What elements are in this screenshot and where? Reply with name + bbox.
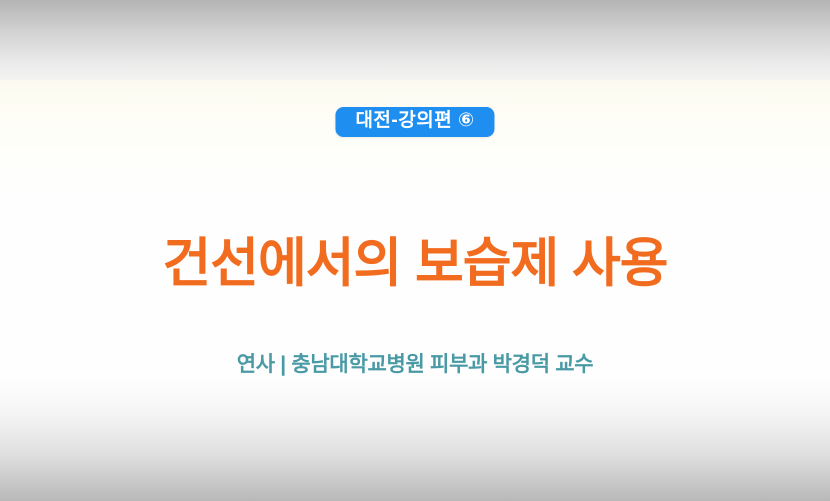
slide-content: 대전-강의편 ⑥ 건선에서의 보습제 사용 연사 | 충남대학교병원 피부과 박… xyxy=(0,0,830,501)
speaker-line: 연사 | 충남대학교병원 피부과 박경덕 교수 xyxy=(0,352,830,377)
series-badge-label: 대전-강의편 ⑥ xyxy=(355,111,474,131)
title-slide: 대전-강의편 ⑥ 건선에서의 보습제 사용 연사 | 충남대학교병원 피부과 박… xyxy=(0,0,830,501)
slide-title: 건선에서의 보습제 사용 xyxy=(0,233,830,296)
series-badge: 대전-강의편 ⑥ xyxy=(335,107,494,137)
